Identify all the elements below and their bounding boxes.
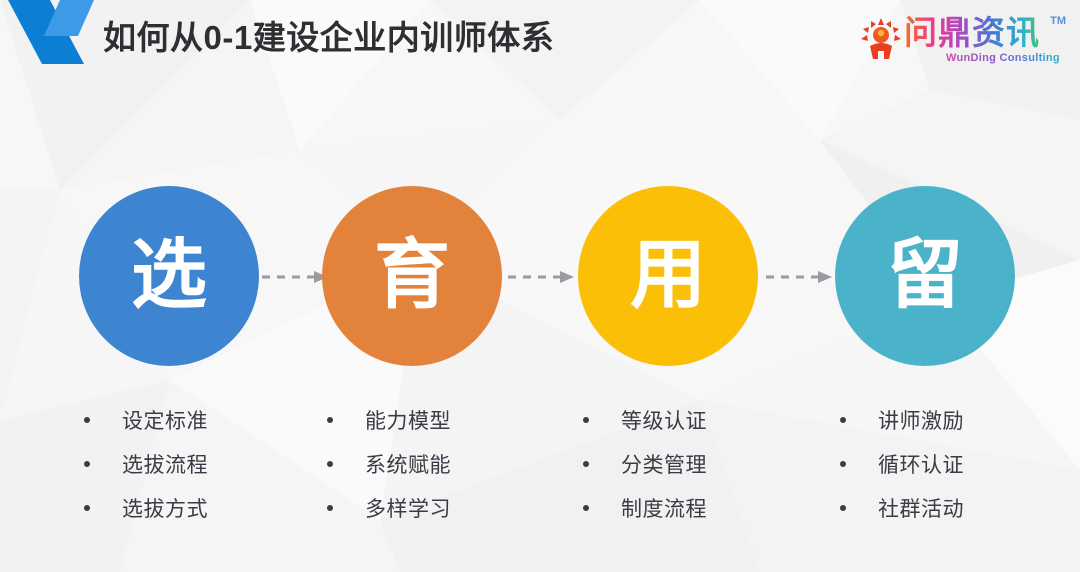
list-item: 分类管理 — [583, 442, 833, 486]
slide-canvas: 如何从0-1建设企业内训师体系 问鼎资讯 TM WunDing Consulti — [0, 0, 1080, 572]
list-item: 循环认证 — [840, 442, 1080, 486]
stage-glyph-deploy: 用 — [630, 238, 706, 314]
list-item-label: 能力模型 — [365, 405, 451, 435]
list-item: 系统赋能 — [327, 442, 577, 486]
brand-parallelogram-icon — [8, 0, 104, 74]
list-item-label: 选拔方式 — [122, 493, 208, 523]
flow-arrow-1 — [262, 270, 330, 284]
list-item-label: 制度流程 — [621, 493, 707, 523]
list-item-label: 多样学习 — [365, 493, 451, 523]
list-item-label: 设定标准 — [122, 405, 208, 435]
stage-glyph-select: 选 — [131, 238, 207, 314]
list-item: 等级认证 — [583, 398, 833, 442]
bullet-dot-icon — [327, 461, 333, 467]
bullet-dot-icon — [840, 461, 846, 467]
corp-logo-text: 问鼎资讯 — [904, 12, 1040, 54]
list-item: 制度流程 — [583, 486, 833, 530]
list-item-label: 等级认证 — [621, 405, 707, 435]
bullet-dot-icon — [84, 461, 90, 467]
bullet-dot-icon — [583, 417, 589, 423]
list-item-label: 讲师激励 — [878, 405, 964, 435]
list-item: 选拔方式 — [84, 486, 334, 530]
detail-column-retain: 讲师激励 循环认证 社群活动 — [840, 398, 1080, 530]
detail-column-develop: 能力模型 系统赋能 多样学习 — [327, 398, 577, 530]
list-item: 设定标准 — [84, 398, 334, 442]
stage-glyph-develop: 育 — [374, 238, 450, 314]
flow-arrow-3 — [766, 270, 834, 284]
list-item-label: 选拔流程 — [122, 449, 208, 479]
list-item-label: 系统赋能 — [365, 449, 451, 479]
sun-person-icon — [860, 18, 902, 60]
stage-circle-retain[interactable]: 留 — [835, 186, 1015, 366]
slide-header: 如何从0-1建设企业内训师体系 问鼎资讯 TM WunDing Consulti — [0, 0, 1080, 80]
list-item-label: 循环认证 — [878, 449, 964, 479]
list-item-label: 分类管理 — [621, 449, 707, 479]
list-item: 社群活动 — [840, 486, 1080, 530]
stage-glyph-retain: 留 — [887, 238, 963, 314]
bullet-dot-icon — [84, 417, 90, 423]
list-item: 讲师激励 — [840, 398, 1080, 442]
bullet-dot-icon — [84, 505, 90, 511]
list-item-label: 社群活动 — [878, 493, 964, 523]
list-item: 能力模型 — [327, 398, 577, 442]
detail-columns: 设定标准 选拔流程 选拔方式 能力模型 系统赋能 多样学习 — [0, 398, 1080, 538]
process-flow: 选 育 用 留 — [0, 186, 1080, 370]
detail-column-deploy: 等级认证 分类管理 制度流程 — [583, 398, 833, 530]
list-item: 多样学习 — [327, 486, 577, 530]
stage-circle-develop[interactable]: 育 — [322, 186, 502, 366]
flow-arrow-2 — [508, 270, 576, 284]
detail-column-select: 设定标准 选拔流程 选拔方式 — [84, 398, 334, 530]
corp-logo-tagline: WunDing Consulting — [946, 52, 1060, 64]
stage-circle-select[interactable]: 选 — [79, 186, 259, 366]
corporate-logo: 问鼎资讯 TM WunDing Consulting — [858, 12, 1068, 68]
bullet-dot-icon — [583, 505, 589, 511]
stage-circle-deploy[interactable]: 用 — [578, 186, 758, 366]
bullet-dot-icon — [840, 417, 846, 423]
trademark-mark: TM — [1050, 15, 1066, 27]
bullet-dot-icon — [327, 417, 333, 423]
page-title: 如何从0-1建设企业内训师体系 — [103, 16, 554, 60]
bullet-dot-icon — [840, 505, 846, 511]
list-item: 选拔流程 — [84, 442, 334, 486]
bullet-dot-icon — [327, 505, 333, 511]
bullet-dot-icon — [583, 461, 589, 467]
